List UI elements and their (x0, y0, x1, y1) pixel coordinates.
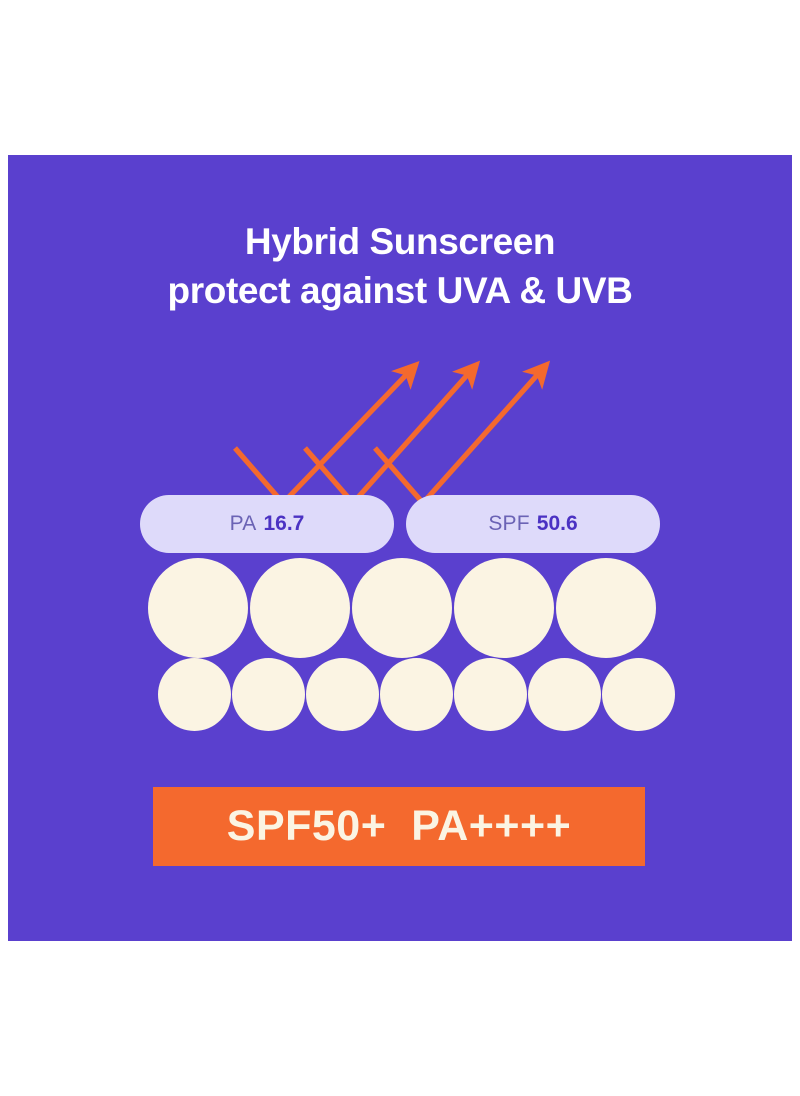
spf-rating-pill[interactable]: SPF 50.6 (406, 495, 660, 553)
skin-cell (380, 658, 453, 731)
skin-cell (602, 658, 675, 731)
skin-cell (250, 558, 350, 658)
pa-rating-pill[interactable]: PA 16.7 (140, 495, 394, 553)
pa-rating-label: PA (230, 512, 257, 536)
headline-line-1: Hybrid Sunscreen (8, 217, 792, 266)
spf-pa-claim-banner: SPF50+ PA++++ (153, 787, 645, 866)
skin-cell (454, 558, 554, 658)
uv-reflected-ray-1 (283, 373, 408, 503)
skin-cell-row-upper (148, 558, 656, 658)
page-title: Hybrid Sunscreen protect against UVA & U… (8, 217, 792, 315)
skin-cell (306, 658, 379, 731)
skin-cell (352, 558, 452, 658)
skin-cell-row-lower (158, 658, 675, 731)
sunscreen-infographic-panel: Hybrid Sunscreen protect against UVA & U… (8, 155, 792, 941)
skin-cell (528, 658, 601, 731)
headline-line-2: protect against UVA & UVB (8, 266, 792, 315)
skin-cell (232, 658, 305, 731)
skin-cell (556, 558, 656, 658)
skin-cell (158, 658, 231, 731)
spf-pa-claim-text: SPF50+ PA++++ (227, 802, 571, 851)
skin-cell (454, 658, 527, 731)
protection-rating-pills: PA 16.7 SPF 50.6 (140, 495, 660, 553)
pa-rating-value: 16.7 (263, 512, 304, 536)
skin-cell (148, 558, 248, 658)
uv-reflected-ray-3 (423, 373, 539, 503)
uv-reflected-ray-2 (353, 373, 469, 503)
spf-rating-value: 50.6 (537, 512, 578, 536)
spf-rating-label: SPF (488, 512, 529, 536)
